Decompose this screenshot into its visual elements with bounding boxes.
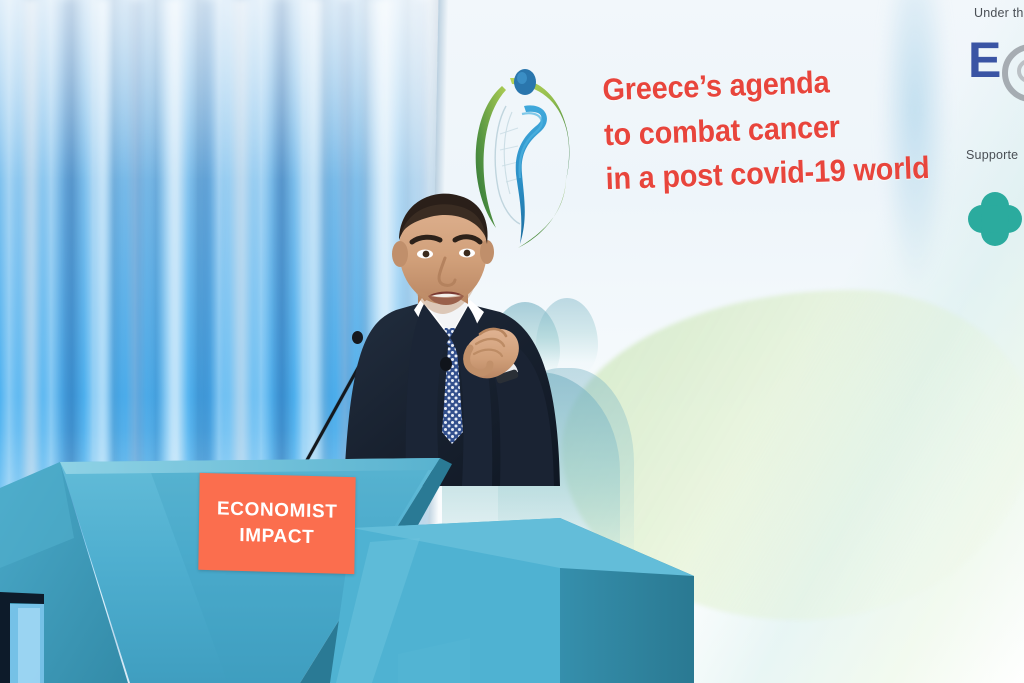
backdrop-headline: Greece’s agenda to combat cancer in a po… — [602, 56, 966, 202]
sign-line-economist: ECONOMIST — [217, 496, 338, 525]
sponsor-block-supported: Supporte — [966, 148, 1024, 162]
sponsor-label-supported: Supporte — [966, 148, 1024, 162]
grey-ring-icon — [1002, 44, 1024, 102]
lectern — [0, 418, 720, 683]
sign-line-impact: IMPACT — [239, 522, 314, 550]
sponsor-label-auspices: Under th — [974, 6, 1024, 20]
sponsor-logo-e: E — [968, 38, 1024, 100]
sponsor-block-auspices: Under th — [974, 6, 1024, 20]
clover-logo-icon — [968, 192, 1022, 246]
economist-impact-sign: ECONOMIST IMPACT — [198, 473, 355, 574]
e-letter-icon: E — [968, 32, 999, 88]
conference-photo-stage: Greece’s agenda to combat cancer in a po… — [0, 0, 1024, 683]
